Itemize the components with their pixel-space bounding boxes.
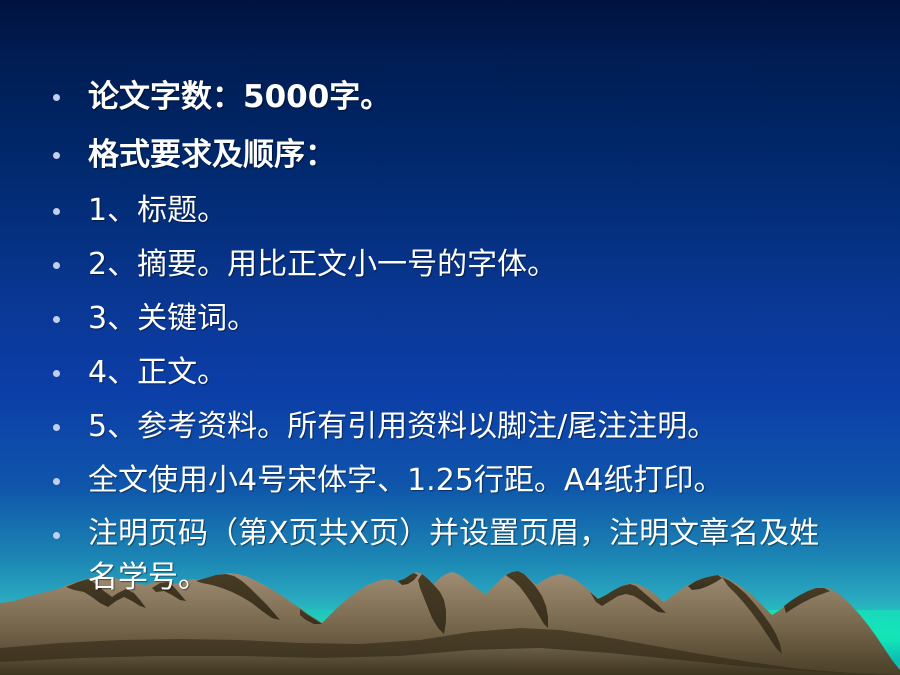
presentation-slide: 论文字数：5000字。 格式要求及顺序： 1、标题。 2、摘要。用比正文小一号的… [0, 0, 900, 675]
bullet-item-word-count: 论文字数：5000字。 [0, 74, 900, 120]
slide-body: 论文字数：5000字。 格式要求及顺序： 1、标题。 2、摘要。用比正文小一号的… [0, 0, 900, 600]
bullet-text: 注明页码（第X页共X页）并设置页眉，注明文章名及姓名学号。 [88, 512, 845, 600]
bullet-marker-icon [52, 350, 62, 396]
bullet-marker-icon [52, 74, 62, 120]
bullet-item-body: 4、正文。 [0, 350, 900, 396]
bullet-text: 格式要求及顺序： [88, 132, 900, 178]
bullet-marker-icon [52, 512, 62, 558]
bullet-list: 论文字数：5000字。 格式要求及顺序： 1、标题。 2、摘要。用比正文小一号的… [0, 74, 900, 600]
bullet-marker-icon [52, 132, 62, 178]
bullet-marker-icon [52, 188, 62, 234]
bullet-item-keywords: 3、关键词。 [0, 296, 900, 342]
bullet-text: 2、摘要。用比正文小一号的字体。 [88, 242, 900, 288]
bullet-marker-icon [52, 242, 62, 288]
bullet-item-title: 1、标题。 [0, 188, 900, 234]
bullet-item-references: 5、参考资料。所有引用资料以脚注/尾注注明。 [0, 404, 900, 450]
bullet-text: 3、关键词。 [88, 296, 900, 342]
bullet-text: 1、标题。 [88, 188, 900, 234]
bullet-marker-icon [52, 404, 62, 450]
bullet-marker-icon [52, 458, 62, 504]
bullet-marker-icon [52, 296, 62, 342]
bullet-item-format-heading: 格式要求及顺序： [0, 132, 900, 178]
bullet-item-typesetting: 全文使用小4号宋体字、1.25行距。A4纸打印。 [0, 458, 900, 504]
bullet-text: 论文字数：5000字。 [88, 74, 900, 120]
bullet-text: 4、正文。 [88, 350, 900, 396]
bullet-item-pagination: 注明页码（第X页共X页）并设置页眉，注明文章名及姓名学号。 [0, 512, 900, 600]
bullet-item-abstract: 2、摘要。用比正文小一号的字体。 [0, 242, 900, 288]
bullet-text: 全文使用小4号宋体字、1.25行距。A4纸打印。 [88, 458, 900, 504]
bullet-text: 5、参考资料。所有引用资料以脚注/尾注注明。 [88, 404, 900, 450]
